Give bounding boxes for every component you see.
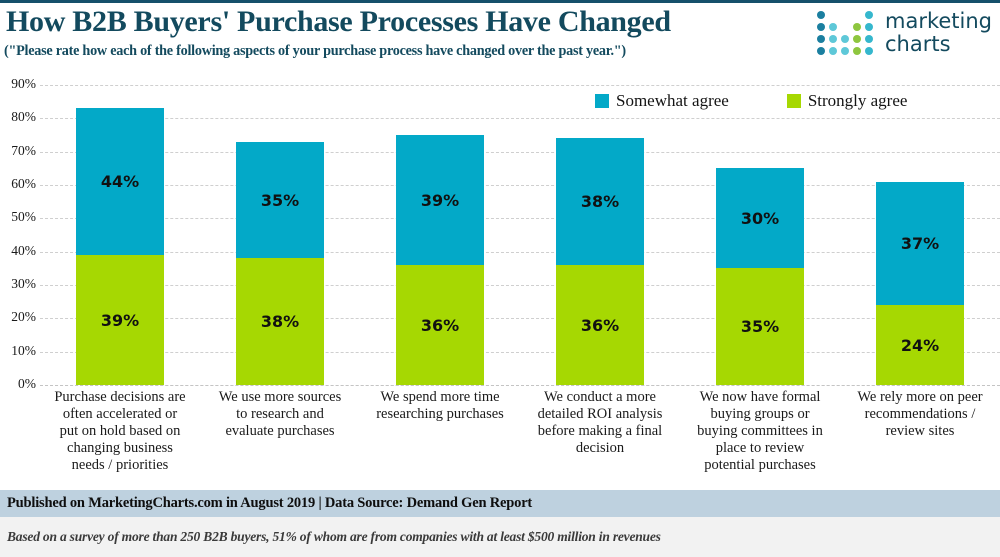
logo-dot-r0-c2 xyxy=(841,11,849,19)
category-label-line: recommendations / xyxy=(844,406,996,423)
y-axis-tick-10: 10% xyxy=(0,343,36,359)
category-label-line: buying committees in xyxy=(684,423,836,440)
category-label-line: We use more sources xyxy=(204,389,356,406)
footer-note-band: Based on a survey of more than 250 B2B b… xyxy=(0,517,1000,557)
bar-value-strongly-agree-6: 24% xyxy=(901,336,939,355)
bar-segment-strongly-agree-6[interactable]: 24% xyxy=(876,305,964,385)
category-label-line: buying groups or xyxy=(684,406,836,423)
y-axis-tick-0: 0% xyxy=(0,376,36,392)
logo-dot-r0-c1 xyxy=(829,11,837,19)
logo-dot-r1-c4 xyxy=(865,23,873,31)
bar-segment-strongly-agree-2[interactable]: 38% xyxy=(236,258,324,385)
logo-dot-r2-c3 xyxy=(853,35,861,43)
bar-value-somewhat-agree-2: 35% xyxy=(261,191,299,210)
bar-value-somewhat-agree-6: 37% xyxy=(901,234,939,253)
logo-dot-r2-c1 xyxy=(829,35,837,43)
chart-page: How B2B Buyers' Purchase Processes Have … xyxy=(0,0,1000,557)
category-label-1: Purchase decisions areoften accelerated … xyxy=(44,389,196,474)
chart-header: How B2B Buyers' Purchase Processes Have … xyxy=(0,3,1000,75)
bar-column-2[interactable]: 38%35% xyxy=(236,142,324,385)
logo-dot-r3-c4 xyxy=(865,47,873,55)
category-label-line: to research and xyxy=(204,406,356,423)
bar-value-strongly-agree-2: 38% xyxy=(261,312,299,331)
logo-dot-r0-c4 xyxy=(865,11,873,19)
logo-dot-r0-c0 xyxy=(817,11,825,19)
y-axis-tick-40: 40% xyxy=(0,243,36,259)
bar-value-somewhat-agree-3: 39% xyxy=(421,191,459,210)
category-label-line: detailed ROI analysis xyxy=(524,406,676,423)
bar-value-somewhat-agree-1: 44% xyxy=(101,172,139,191)
category-label-line: We now have formal xyxy=(684,389,836,406)
legend-swatch-icon-2 xyxy=(787,94,801,108)
legend-item-2[interactable]: Strongly agree xyxy=(787,91,908,111)
bar-value-somewhat-agree-4: 38% xyxy=(581,192,619,211)
plot-bars: 39%44%38%35%36%39%36%38%35%30%24%37% xyxy=(40,85,1000,385)
y-axis-tick-50: 50% xyxy=(0,209,36,225)
category-label-line: changing business xyxy=(44,440,196,457)
marketing-charts-logo: marketing charts xyxy=(815,9,992,57)
category-label-line: Purchase decisions are xyxy=(44,389,196,406)
x-axis-line xyxy=(40,385,1000,386)
bar-column-3[interactable]: 36%39% xyxy=(396,135,484,385)
category-label-line: place to review xyxy=(684,440,836,457)
bar-segment-somewhat-agree-6[interactable]: 37% xyxy=(876,182,964,305)
logo-dot-r2-c2 xyxy=(841,35,849,43)
logo-dot-r0-c3 xyxy=(853,11,861,19)
bar-segment-somewhat-agree-2[interactable]: 35% xyxy=(236,142,324,259)
legend-item-1[interactable]: Somewhat agree xyxy=(595,91,729,111)
bar-column-1[interactable]: 39%44% xyxy=(76,108,164,385)
y-axis-labels: 0%10%20%30%40%50%60%70%80%90% xyxy=(0,85,36,385)
category-label-line: decision xyxy=(524,440,676,457)
x-axis-category-labels: Purchase decisions areoften accelerated … xyxy=(40,389,1000,485)
logo-dot-matrix-icon xyxy=(815,9,875,57)
logo-dot-r2-c4 xyxy=(865,35,873,43)
y-axis-tick-70: 70% xyxy=(0,143,36,159)
logo-dot-r1-c0 xyxy=(817,23,825,31)
logo-dot-r1-c3 xyxy=(853,23,861,31)
category-label-line: evaluate purchases xyxy=(204,423,356,440)
legend-label-1: Somewhat agree xyxy=(616,91,729,111)
category-label-4: We conduct a moredetailed ROI analysisbe… xyxy=(524,389,676,457)
bar-segment-somewhat-agree-1[interactable]: 44% xyxy=(76,108,164,255)
footer-published-band: Published on MarketingCharts.com in Augu… xyxy=(0,490,1000,517)
logo-dot-r3-c2 xyxy=(841,47,849,55)
chart-area: 0%10%20%30%40%50%60%70%80%90% 39%44%38%3… xyxy=(0,77,1000,489)
bar-value-strongly-agree-1: 39% xyxy=(101,311,139,330)
category-label-3: We spend more timeresearching purchases xyxy=(364,389,516,423)
bar-segment-somewhat-agree-3[interactable]: 39% xyxy=(396,135,484,265)
logo-line-1: marketing xyxy=(885,10,992,33)
legend-label-2: Strongly agree xyxy=(808,91,908,111)
category-label-line: needs / priorities xyxy=(44,457,196,474)
category-label-line: We conduct a more xyxy=(524,389,676,406)
logo-wordmark: marketing charts xyxy=(885,10,992,56)
bar-segment-strongly-agree-5[interactable]: 35% xyxy=(716,268,804,385)
y-axis-tick-20: 20% xyxy=(0,309,36,325)
bar-column-4[interactable]: 36%38% xyxy=(556,138,644,385)
bar-segment-strongly-agree-1[interactable]: 39% xyxy=(76,255,164,385)
logo-dot-r1-c2 xyxy=(841,23,849,31)
chart-legend: Somewhat agreeStrongly agree xyxy=(595,91,907,111)
page-subtitle: ("Please rate how each of the following … xyxy=(4,43,814,60)
logo-dot-r3-c0 xyxy=(817,47,825,55)
logo-dot-r2-c0 xyxy=(817,35,825,43)
bar-value-strongly-agree-3: 36% xyxy=(421,316,459,335)
category-label-line: We spend more time xyxy=(364,389,516,406)
y-axis-tick-60: 60% xyxy=(0,176,36,192)
bar-value-strongly-agree-4: 36% xyxy=(581,316,619,335)
category-label-line: often accelerated or xyxy=(44,406,196,423)
category-label-line: review sites xyxy=(844,423,996,440)
logo-dot-r1-c1 xyxy=(829,23,837,31)
logo-dot-r3-c1 xyxy=(829,47,837,55)
y-axis-tick-90: 90% xyxy=(0,76,36,92)
category-label-line: We rely more on peer xyxy=(844,389,996,406)
category-label-line: researching purchases xyxy=(364,406,516,423)
bar-segment-strongly-agree-4[interactable]: 36% xyxy=(556,265,644,385)
bar-value-strongly-agree-5: 35% xyxy=(741,317,779,336)
footer-note-text: Based on a survey of more than 250 B2B b… xyxy=(0,529,661,545)
y-axis-tick-30: 30% xyxy=(0,276,36,292)
logo-line-2: charts xyxy=(885,33,992,56)
page-title: How B2B Buyers' Purchase Processes Have … xyxy=(6,5,806,39)
category-label-line: before making a final xyxy=(524,423,676,440)
category-label-6: We rely more on peerrecommendations /rev… xyxy=(844,389,996,440)
bar-column-5[interactable]: 35%30% xyxy=(716,168,804,385)
bar-column-6[interactable]: 24%37% xyxy=(876,182,964,385)
logo-dot-r3-c3 xyxy=(853,47,861,55)
bar-segment-strongly-agree-3[interactable]: 36% xyxy=(396,265,484,385)
category-label-5: We now have formalbuying groups orbuying… xyxy=(684,389,836,474)
legend-swatch-icon-1 xyxy=(595,94,609,108)
category-label-line: potential purchases xyxy=(684,457,836,474)
bar-value-somewhat-agree-5: 30% xyxy=(741,209,779,228)
footer-published-text: Published on MarketingCharts.com in Augu… xyxy=(0,495,532,512)
y-axis-tick-80: 80% xyxy=(0,109,36,125)
bar-segment-somewhat-agree-5[interactable]: 30% xyxy=(716,168,804,268)
category-label-line: put on hold based on xyxy=(44,423,196,440)
bar-segment-somewhat-agree-4[interactable]: 38% xyxy=(556,138,644,265)
category-label-2: We use more sourcesto research andevalua… xyxy=(204,389,356,440)
